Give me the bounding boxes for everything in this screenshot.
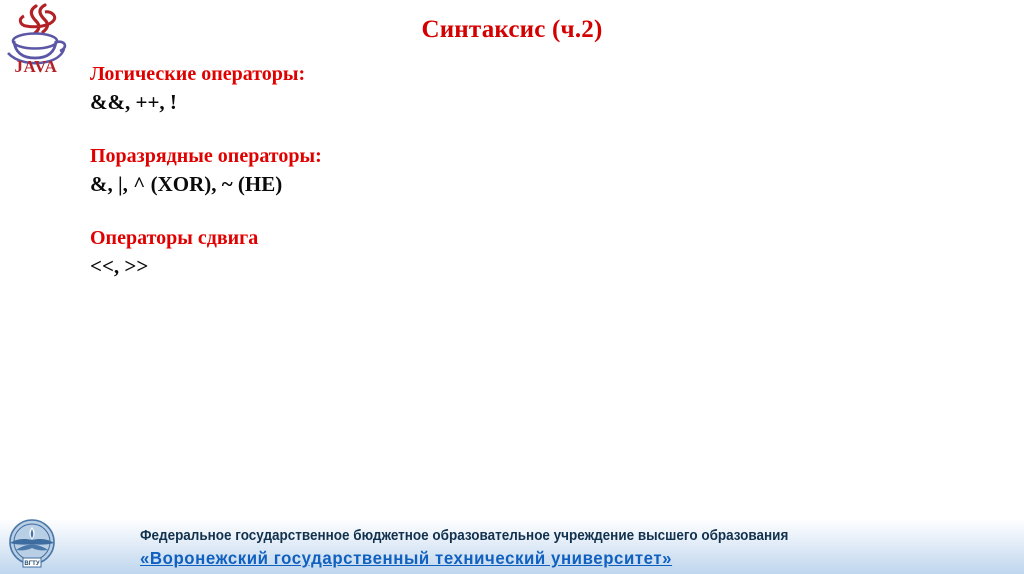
footer-banner: ВГТУ Федеральное государственное бюджетн… (0, 518, 1024, 574)
section-bitwise-operators: Поразрядные операторы: &, |, ^ (XOR), ~ … (90, 142, 920, 198)
page-title: Синтаксис (ч.2) (0, 16, 1024, 44)
footer-text-block: Федеральное государственное бюджетное об… (140, 526, 1000, 570)
section-logical-operators: Логические операторы: &&, ++, ! (90, 60, 920, 116)
section-text: <<, >> (90, 252, 920, 280)
footer-institution-line: Федеральное государственное бюджетное об… (140, 526, 940, 546)
section-shift-operators: Операторы сдвига <<, >> (90, 224, 920, 280)
section-heading: Операторы сдвига (90, 224, 920, 252)
svg-text:JAVA: JAVA (15, 57, 58, 74)
content-body: Логические операторы: &&, ++, ! Поразряд… (90, 60, 920, 280)
section-text: &&, ++, ! (90, 88, 920, 116)
vstu-emblem-icon: ВГТУ (4, 518, 60, 572)
svg-text:ВГТУ: ВГТУ (24, 561, 39, 567)
section-heading: Поразрядные операторы: (90, 142, 920, 170)
section-text: &, |, ^ (XOR), ~ (НЕ) (90, 170, 920, 198)
footer-university-name-link[interactable]: «Воронежский государственный технический… (140, 546, 966, 570)
section-heading: Логические операторы: (90, 60, 920, 88)
